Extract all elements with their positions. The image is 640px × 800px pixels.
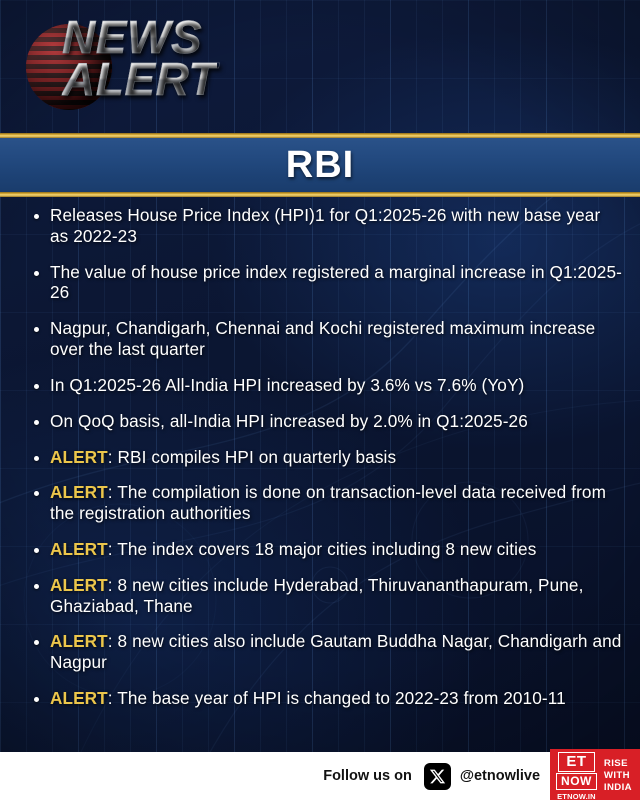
etnow-logo-site: ETNOW.IN (557, 792, 596, 800)
bullet-item: The value of house price index registere… (0, 262, 640, 304)
etnow-tagline-line1: RISE (604, 758, 632, 770)
title-band: RBI (0, 133, 640, 197)
bullet-body: Nagpur, Chandigarh, Chennai and Kochi re… (50, 318, 595, 359)
bullet-item: ALERT: The index covers 18 major cities … (0, 539, 640, 560)
bullet-dot-icon (34, 640, 39, 645)
bullet-list: Releases House Price Index (HPI)1 for Q1… (0, 205, 640, 724)
bullet-text: ALERT: The compilation is done on transa… (50, 482, 622, 524)
alert-label: ALERT (50, 539, 108, 559)
alert-label: ALERT (50, 575, 108, 595)
bullet-dot-icon (34, 214, 39, 219)
bullet-item: In Q1:2025-26 All-India HPI increased by… (0, 375, 640, 396)
etnow-logo: ET NOW ETNOW.IN RISE WITH INDIA (550, 749, 640, 800)
bullet-body: : The base year of HPI is changed to 202… (108, 688, 566, 708)
news-alert-logo-text: NEWS ALERT (62, 18, 217, 99)
news-alert-card: NEWS ALERT RBI Releases House Price Inde… (0, 0, 640, 800)
alert-label: ALERT (50, 447, 108, 467)
footer-bar: Follow us on @etnowlive ET NOW ETNOW.IN … (0, 752, 640, 800)
etnow-logo-marks: ET NOW ETNOW.IN (556, 752, 597, 800)
bullet-dot-icon (34, 491, 39, 496)
bullet-body: Releases House Price Index (HPI)1 for Q1… (50, 205, 600, 246)
social-handle[interactable]: @etnowlive (460, 768, 540, 784)
bullet-dot-icon (34, 697, 39, 702)
bullet-item: Releases House Price Index (HPI)1 for Q1… (0, 205, 640, 247)
etnow-tagline-line2: WITH (604, 770, 632, 782)
bullet-text: The value of house price index registere… (50, 262, 622, 304)
logo-line-news: NEWS (62, 18, 217, 58)
bullet-body: In Q1:2025-26 All-India HPI increased by… (50, 375, 524, 395)
bullet-body: On QoQ basis, all-India HPI increased by… (50, 411, 528, 431)
bullet-body: : 8 new cities also include Gautam Buddh… (50, 631, 621, 672)
bullet-text: On QoQ basis, all-India HPI increased by… (50, 411, 528, 432)
bullet-item: ALERT: 8 new cities include Hyderabad, T… (0, 575, 640, 617)
bullet-text: Nagpur, Chandigarh, Chennai and Kochi re… (50, 318, 622, 360)
bullet-dot-icon (34, 420, 39, 425)
bullet-item: On QoQ basis, all-India HPI increased by… (0, 411, 640, 432)
bullet-dot-icon (34, 584, 39, 589)
bullet-dot-icon (34, 384, 39, 389)
bullet-text: In Q1:2025-26 All-India HPI increased by… (50, 375, 524, 396)
etnow-tagline: RISE WITH INDIA (604, 752, 632, 800)
bullet-body: : 8 new cities include Hyderabad, Thiruv… (50, 575, 583, 616)
gold-rule-bottom (0, 192, 640, 197)
page-title: RBI (286, 144, 354, 187)
header: NEWS ALERT (0, 0, 640, 133)
alert-label: ALERT (50, 482, 108, 502)
bullet-item: ALERT: RBI compiles HPI on quarterly bas… (0, 447, 640, 468)
news-alert-logo: NEWS ALERT (26, 18, 226, 118)
bullet-dot-icon (34, 456, 39, 461)
bullet-body: The value of house price index registere… (50, 262, 622, 303)
bullet-body: : The index covers 18 major cities inclu… (108, 539, 537, 559)
alert-label: ALERT (50, 631, 108, 651)
bullet-dot-icon (34, 271, 39, 276)
bullet-text: ALERT: 8 new cities include Hyderabad, T… (50, 575, 622, 617)
follow-us-label: Follow us on (323, 768, 412, 784)
bullet-dot-icon (34, 327, 39, 332)
x-twitter-icon[interactable] (424, 763, 451, 790)
bullet-item: Nagpur, Chandigarh, Chennai and Kochi re… (0, 318, 640, 360)
bullet-dot-icon (34, 548, 39, 553)
bullet-body: : RBI compiles HPI on quarterly basis (108, 447, 396, 467)
logo-line-alert: ALERT (62, 60, 217, 100)
bullet-text: ALERT: The index covers 18 major cities … (50, 539, 536, 560)
bullet-text: ALERT: 8 new cities also include Gautam … (50, 631, 622, 673)
bullet-item: ALERT: 8 new cities also include Gautam … (0, 631, 640, 673)
title-band-inner: RBI (0, 138, 640, 192)
bullet-item: ALERT: The compilation is done on transa… (0, 482, 640, 524)
etnow-logo-et: ET (558, 752, 594, 772)
bullet-text: ALERT: The base year of HPI is changed t… (50, 688, 566, 709)
alert-label: ALERT (50, 688, 108, 708)
etnow-tagline-line3: INDIA (604, 782, 632, 794)
bullet-body: : The compilation is done on transaction… (50, 482, 606, 523)
bullet-text: Releases House Price Index (HPI)1 for Q1… (50, 205, 622, 247)
bullet-text: ALERT: RBI compiles HPI on quarterly bas… (50, 447, 396, 468)
bullet-item: ALERT: The base year of HPI is changed t… (0, 688, 640, 709)
etnow-logo-now: NOW (556, 773, 597, 790)
